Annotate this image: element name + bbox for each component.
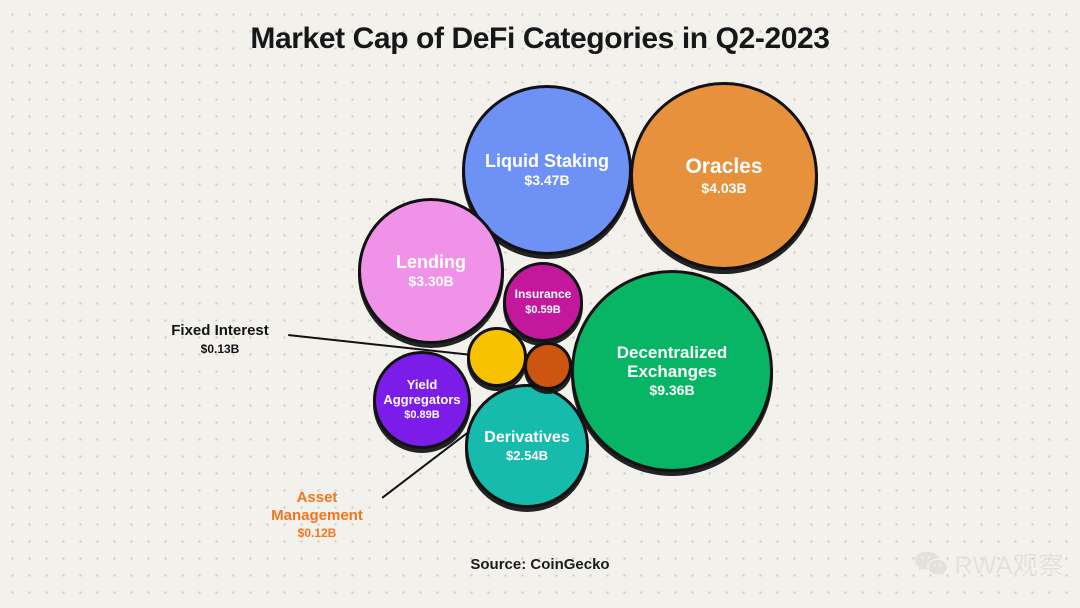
bubble-label-decentralized-exchanges: DecentralizedExchanges	[617, 343, 728, 381]
bubble-value-yield-aggregators: $0.89B	[404, 409, 439, 421]
bubble-value-oracles: $4.03B	[701, 181, 746, 197]
external-label-asset-management: AssetManagement$0.12B	[255, 489, 379, 541]
external-label-name-fixed-interest: Fixed Interest	[160, 322, 280, 340]
bubble-label-lending: Lending	[396, 252, 466, 272]
bubble-yield-aggregators[interactable]: YieldAggregators$0.89B	[373, 351, 471, 449]
external-label-value-asset-management: $0.12B	[255, 526, 379, 540]
external-label-value-fixed-interest: $0.13B	[160, 342, 280, 356]
bubble-label-insurance: Insurance	[515, 288, 572, 301]
bubble-value-insurance: $0.59B	[525, 304, 560, 316]
watermark: RWA观察	[914, 546, 1064, 582]
watermark-text: RWA观察	[955, 546, 1064, 582]
bubble-asset-management[interactable]	[524, 342, 572, 390]
external-label-name-asset-management: AssetManagement	[255, 489, 379, 524]
bubble-value-derivatives: $2.54B	[506, 449, 548, 464]
bubble-label-derivatives: Derivatives	[484, 429, 569, 447]
bubble-label-oracles: Oracles	[685, 155, 762, 179]
bubble-value-liquid-staking: $3.47B	[524, 173, 569, 189]
bubble-chart-canvas: Market Cap of DeFi Categories in Q2-2023…	[0, 0, 1080, 608]
bubble-oracles[interactable]: Oracles$4.03B	[630, 82, 818, 270]
external-label-fixed-interest: Fixed Interest$0.13B	[160, 322, 280, 356]
bubble-label-yield-aggregators: YieldAggregators	[383, 378, 460, 407]
bubble-label-liquid-staking: Liquid Staking	[485, 151, 609, 171]
bubble-lending[interactable]: Lending$3.30B	[358, 198, 504, 344]
bubble-fixed-interest[interactable]	[467, 327, 527, 387]
bubble-layer: DecentralizedExchanges$9.36BOracles$4.03…	[0, 0, 1080, 608]
bubble-derivatives[interactable]: Derivatives$2.54B	[465, 384, 589, 508]
bubble-value-decentralized-exchanges: $9.36B	[649, 383, 694, 399]
bubble-insurance[interactable]: Insurance$0.59B	[503, 262, 583, 342]
wechat-icon	[914, 550, 948, 578]
bubble-decentralized-exchanges[interactable]: DecentralizedExchanges$9.36B	[571, 270, 773, 472]
bubble-value-lending: $3.30B	[408, 274, 453, 290]
